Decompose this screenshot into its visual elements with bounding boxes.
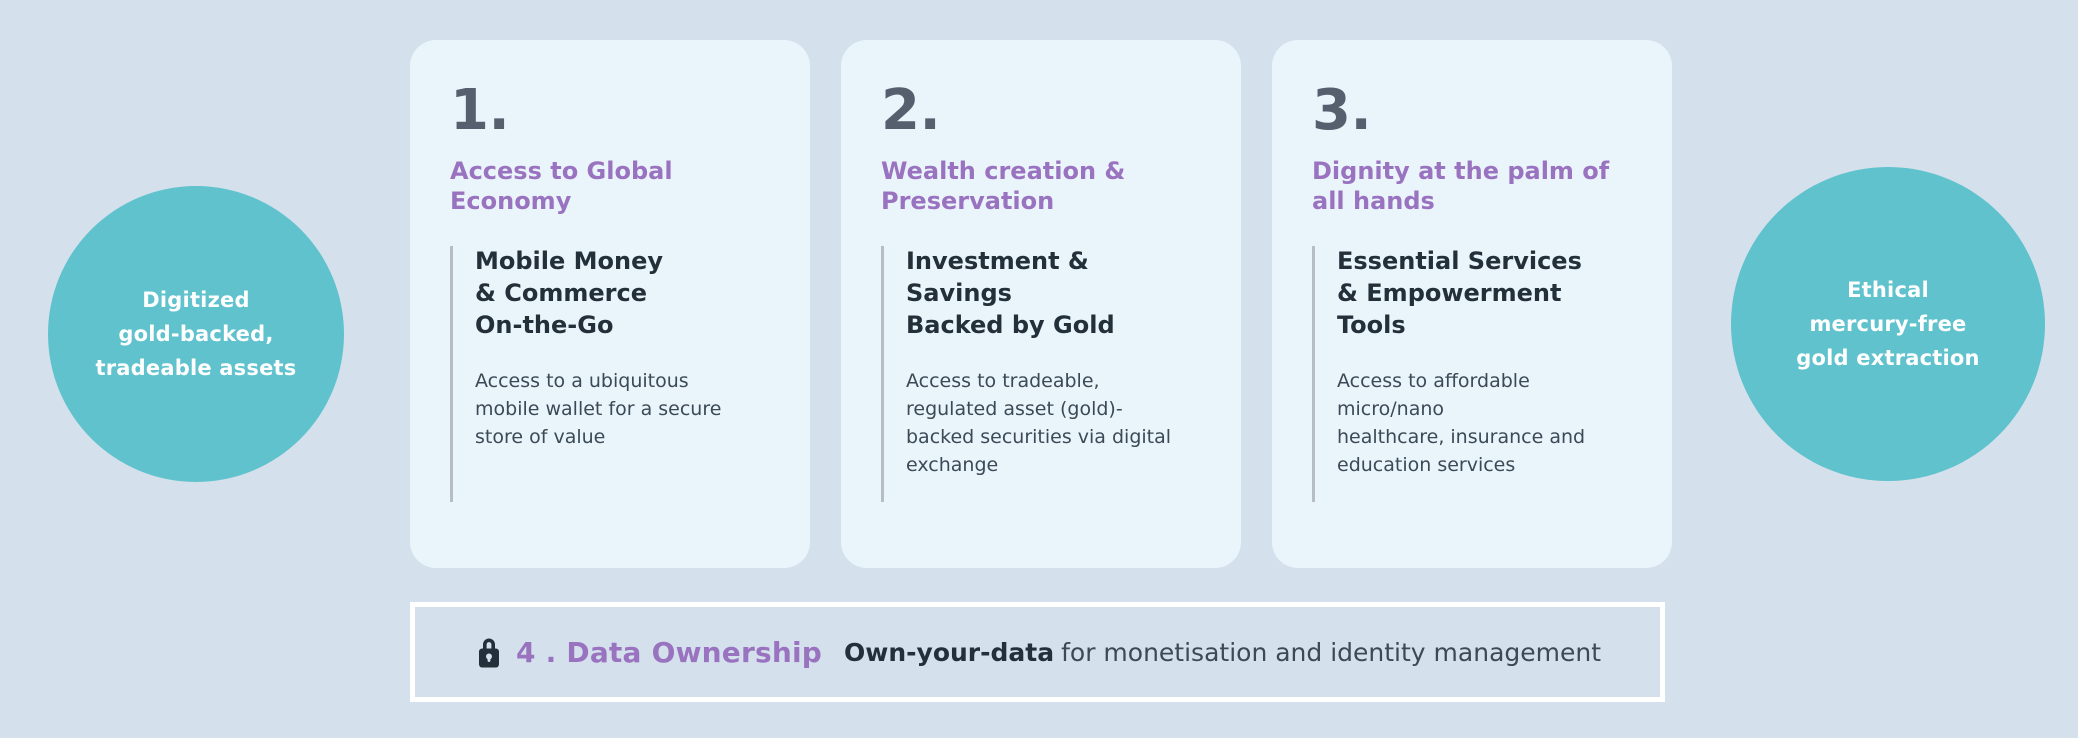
card-number: 2. (881, 84, 1201, 137)
card-body-title: Essential Services & Empowerment Tools (1337, 246, 1632, 342)
left-circle-label: Digitized gold-backed, tradeable assets (96, 283, 297, 385)
card-heading: Access to Global Economy (450, 157, 770, 216)
card-body-text: Access to tradeable, regulated asset (go… (906, 368, 1201, 480)
card-body: Essential Services & Empowerment Tools A… (1312, 246, 1632, 502)
data-ownership-description: for monetisation and identity management (1061, 638, 1601, 667)
card-body-title: Mobile Money & Commerce On-the-Go (475, 246, 770, 342)
lock-icon (474, 635, 504, 669)
data-ownership-title: 4 . Data Ownership (516, 636, 822, 669)
card-1: 1. Access to Global Economy Mobile Money… (410, 40, 810, 568)
card-heading: Dignity at the palm of all hands (1312, 157, 1632, 216)
card-group: 1. Access to Global Economy Mobile Money… (410, 40, 1672, 568)
card-body: Mobile Money & Commerce On-the-Go Access… (450, 246, 770, 502)
data-ownership-bar: 4 . Data Ownership Own-your-data for mon… (410, 602, 1665, 702)
right-circle-badge: Ethical mercury-free gold extraction (1731, 167, 2045, 481)
data-ownership-strong: Own-your-data (844, 638, 1054, 667)
card-body-text: Access to affordable micro/nano healthca… (1337, 368, 1632, 480)
right-circle-label: Ethical mercury-free gold extraction (1796, 273, 1979, 375)
left-circle-badge: Digitized gold-backed, tradeable assets (48, 186, 344, 482)
card-heading: Wealth creation & Preservation (881, 157, 1201, 216)
card-body: Investment & Savings Backed by Gold Acce… (881, 246, 1201, 502)
card-number: 1. (450, 84, 770, 137)
card-2: 2. Wealth creation & Preservation Invest… (841, 40, 1241, 568)
card-body-title: Investment & Savings Backed by Gold (906, 246, 1201, 342)
card-number: 3. (1312, 84, 1632, 137)
card-body-text: Access to a ubiquitous mobile wallet for… (475, 368, 770, 452)
card-3: 3. Dignity at the palm of all hands Esse… (1272, 40, 1672, 568)
data-ownership-bar-content: 4 . Data Ownership Own-your-data for mon… (474, 635, 1601, 669)
